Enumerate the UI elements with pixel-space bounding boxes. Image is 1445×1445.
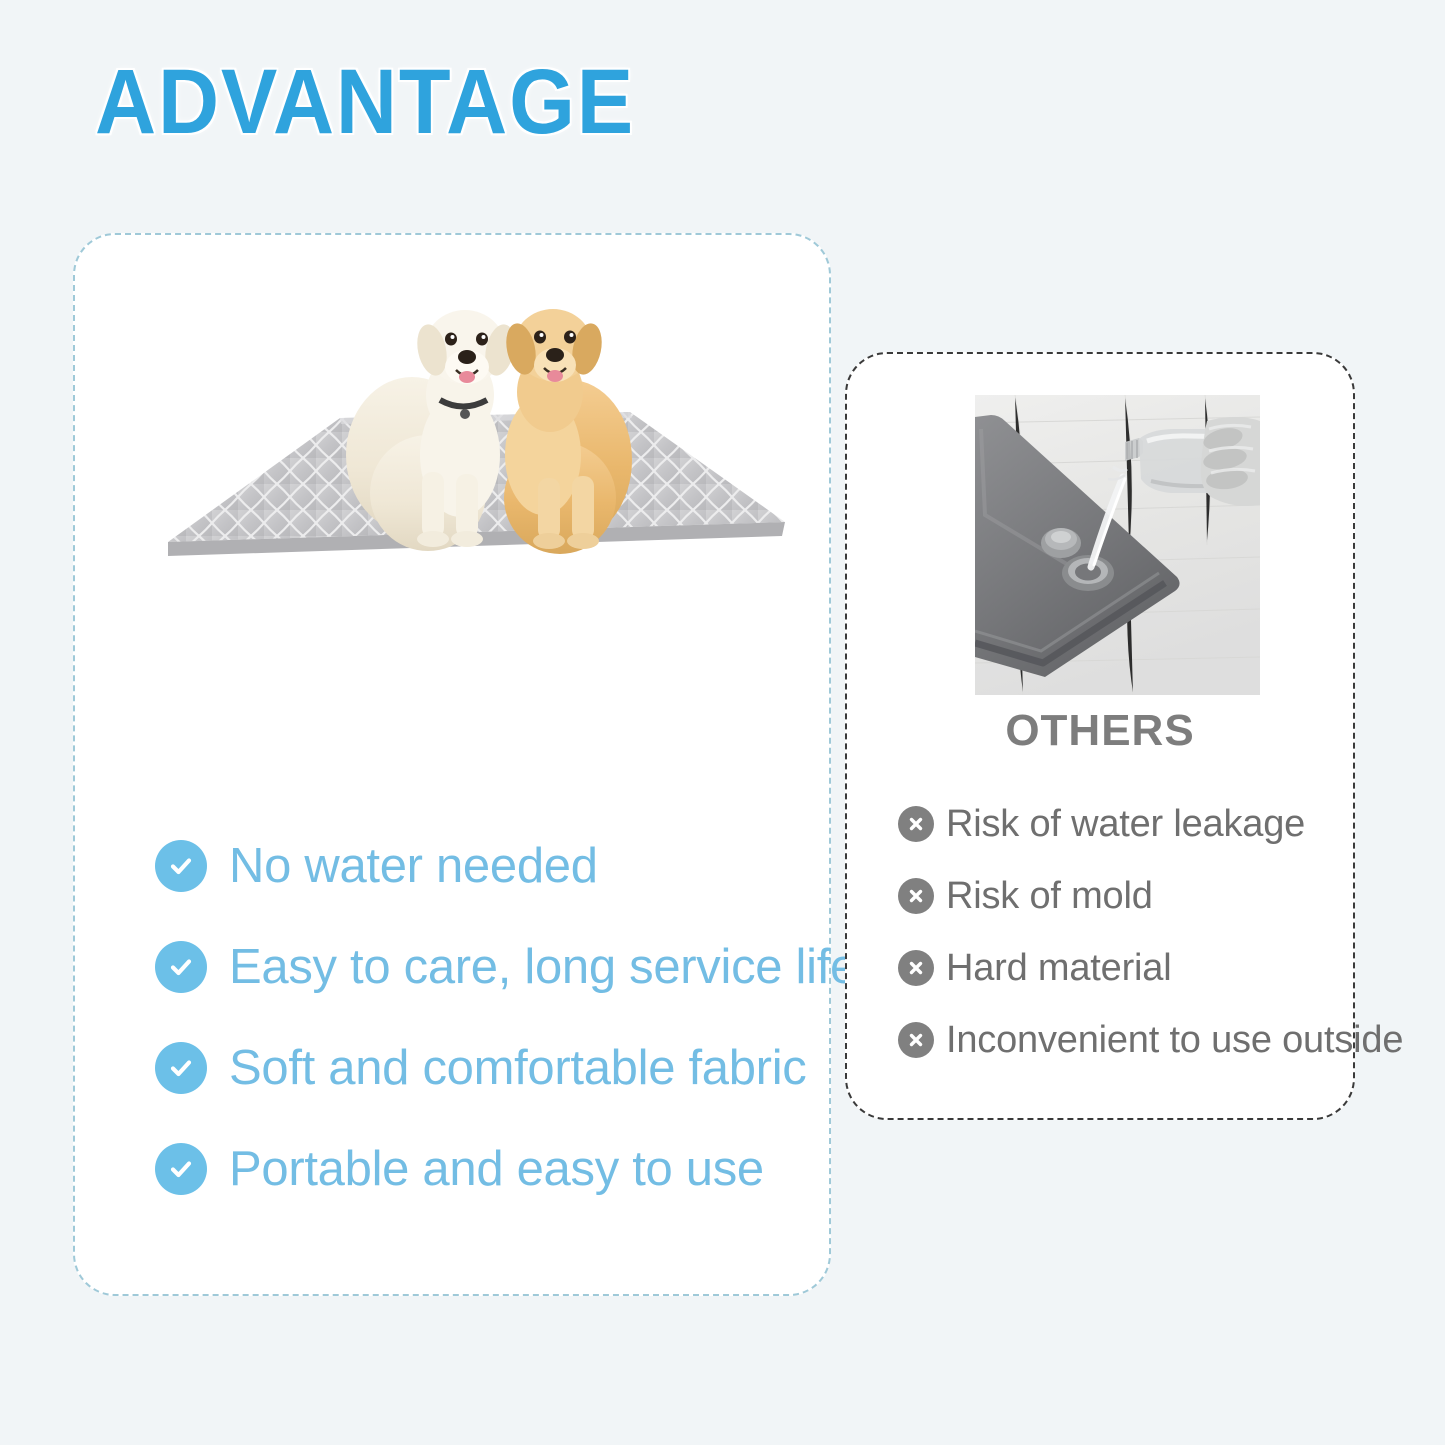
close-icon	[898, 806, 934, 842]
others-product-photo	[975, 395, 1260, 695]
check-icon	[155, 941, 207, 993]
advantage-product-photo	[160, 250, 805, 670]
advantage-item-label: Portable and easy to use	[229, 1141, 764, 1197]
close-icon	[898, 878, 934, 914]
others-item-label: Risk of water leakage	[946, 803, 1305, 846]
page-title: ADVANTAGE	[95, 50, 635, 155]
others-item-label: Risk of mold	[946, 875, 1153, 918]
others-list: Risk of water leakage Risk of mold Hard …	[898, 788, 1368, 1076]
list-item: Hard material	[898, 932, 1368, 1004]
others-heading: OTHERS	[845, 706, 1355, 756]
infographic-canvas: ADVANTAGE	[0, 0, 1445, 1445]
list-item: Portable and easy to use	[155, 1118, 855, 1219]
others-item-label: Hard material	[946, 947, 1171, 990]
close-icon	[898, 1022, 934, 1058]
advantage-item-label: Easy to care, long service life	[229, 939, 857, 995]
check-icon	[155, 840, 207, 892]
list-item: No water needed	[155, 815, 855, 916]
advantage-item-label: No water needed	[229, 838, 598, 894]
others-item-label: Inconvenient to use outside	[946, 1019, 1403, 1062]
check-icon	[155, 1042, 207, 1094]
advantage-list: No water needed Easy to care, long servi…	[155, 815, 855, 1219]
list-item: Inconvenient to use outside	[898, 1004, 1368, 1076]
close-icon	[898, 950, 934, 986]
list-item: Risk of water leakage	[898, 788, 1368, 860]
advantage-item-label: Soft and comfortable fabric	[229, 1040, 806, 1096]
list-item: Risk of mold	[898, 860, 1368, 932]
check-icon	[155, 1143, 207, 1195]
list-item: Soft and comfortable fabric	[155, 1017, 855, 1118]
list-item: Easy to care, long service life	[155, 916, 855, 1017]
